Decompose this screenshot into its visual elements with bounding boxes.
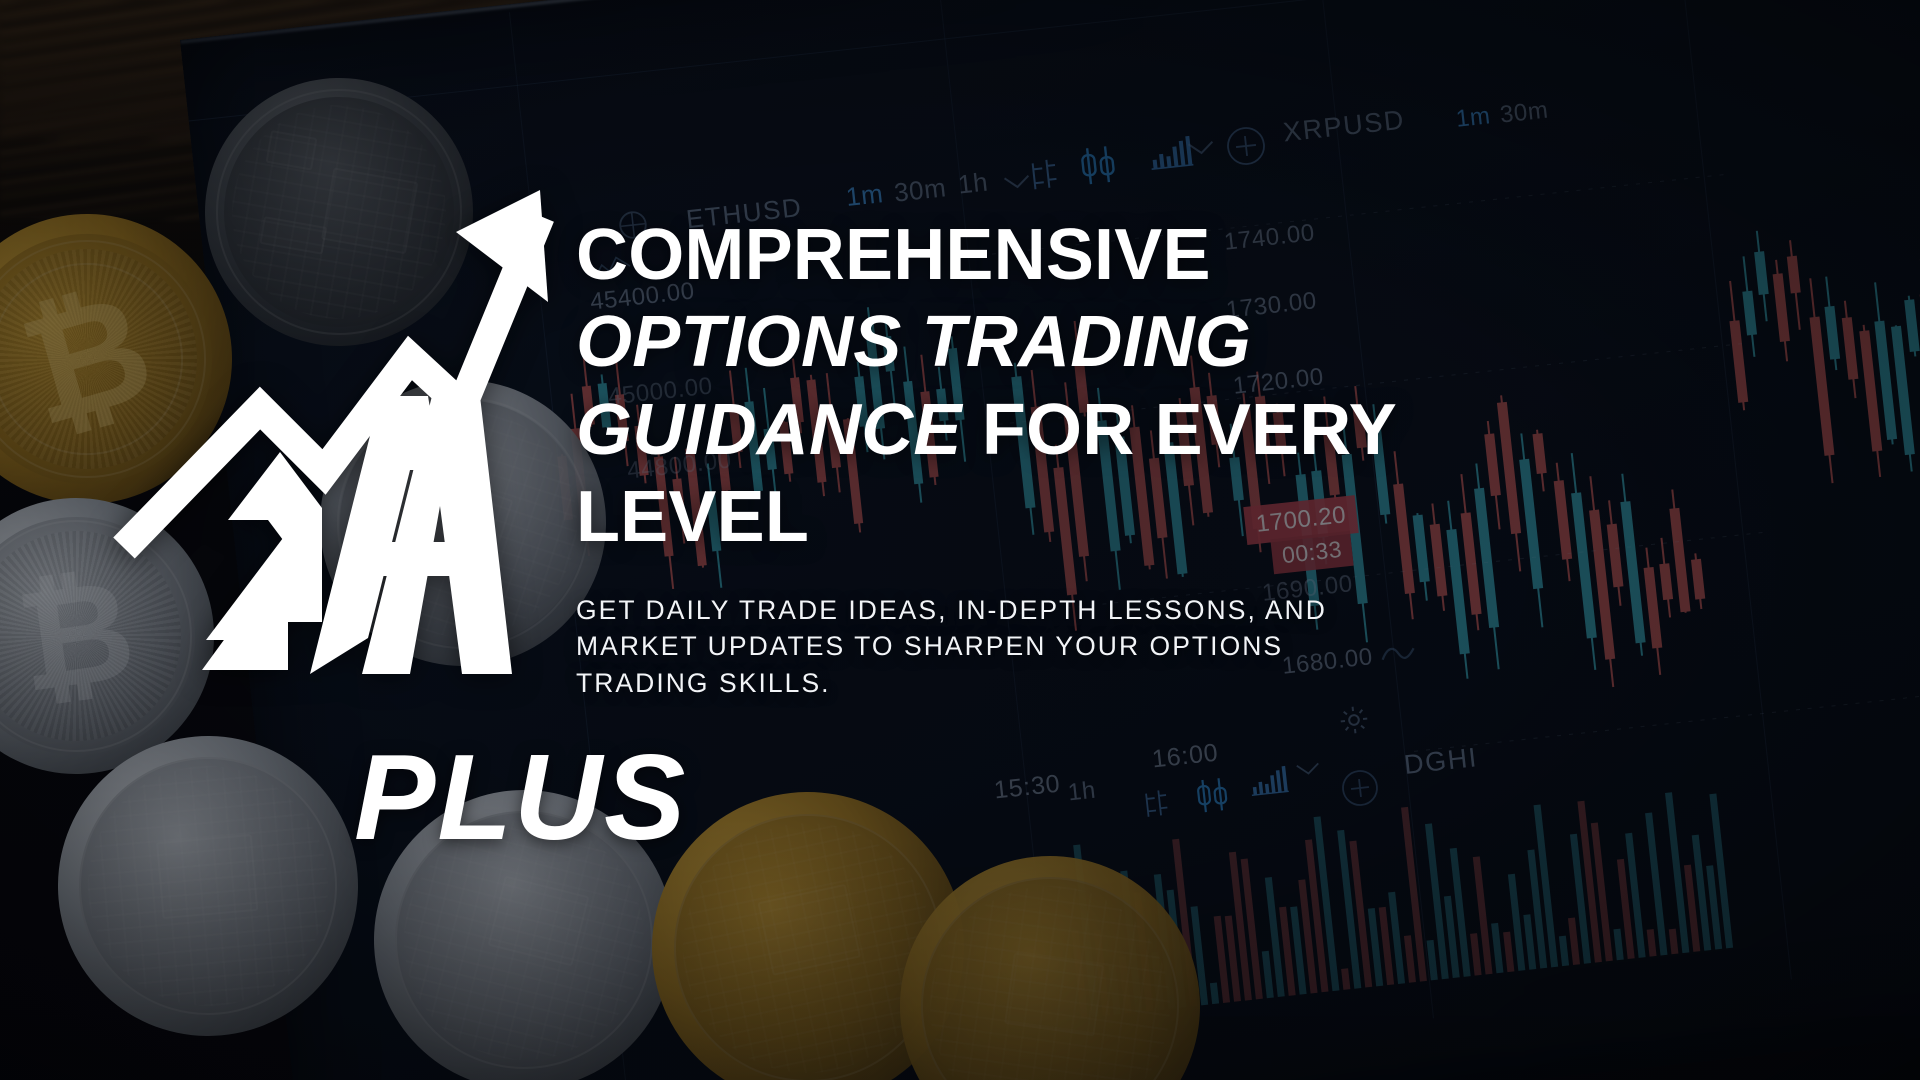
time-axis-label: 16:00 [1151,738,1220,774]
chevron-down-icon[interactable] [1185,136,1217,159]
plus-circle-icon[interactable] [1336,764,1384,812]
bar-chart-icon[interactable] [1247,764,1292,798]
candlestick-icon[interactable] [1192,775,1236,815]
chevron-down-icon[interactable] [1001,170,1033,193]
upward-arrow-mountain-chart-icon [110,170,580,730]
candlestick-icon[interactable] [1076,143,1124,188]
symbol-label-dghi: DGHI [1403,742,1480,781]
chevron-down-icon[interactable] [1293,759,1323,780]
brand-wordmark-plus: PLUS [354,736,687,858]
headline-line-3-rest: FOR EVERY [962,390,1397,470]
time-axis-label: 15:30 [993,769,1062,805]
headline-line-1: COMPREHENSIVE [576,212,1456,299]
timeframe-1h[interactable]: 1h [956,166,989,200]
page-title: COMPREHENSIVE OPTIONS TRADING GUIDANCE F… [576,212,1456,562]
hero-subtitle: GET DAILY TRADE IDEAS, IN-DEPTH LESSONS,… [576,592,1416,702]
timeframe-30m[interactable]: 30m [892,172,947,208]
timeframe-1h-bottom[interactable]: 1h [1067,777,1098,808]
plus-circle-icon[interactable] [1222,122,1270,170]
timeframe-1m[interactable]: 1m [844,178,884,213]
headline-line-3-emphasis: GUIDANCE [576,390,962,470]
hero-banner: ETHUSD XRPUSD DGHI 1m 30m 1h 1m 30m 1h 4… [0,0,1920,1080]
headline-line-2: OPTIONS TRADING [576,299,1456,386]
headline-line-3: GUIDANCE FOR EVERY [576,387,1456,474]
symbol-label-xrpusd: XRPUSD [1282,104,1407,148]
headline-line-4: LEVEL [576,474,1456,561]
gear-icon[interactable] [1335,701,1372,738]
hero-copy: COMPREHENSIVE OPTIONS TRADING GUIDANCE F… [576,212,1456,702]
timeframe-1m-top[interactable]: 1m [1455,102,1492,134]
measure-icon[interactable] [1138,785,1177,823]
brand-logo: PLUS [110,170,580,730]
timeframe-30m-top[interactable]: 30m [1499,96,1550,129]
